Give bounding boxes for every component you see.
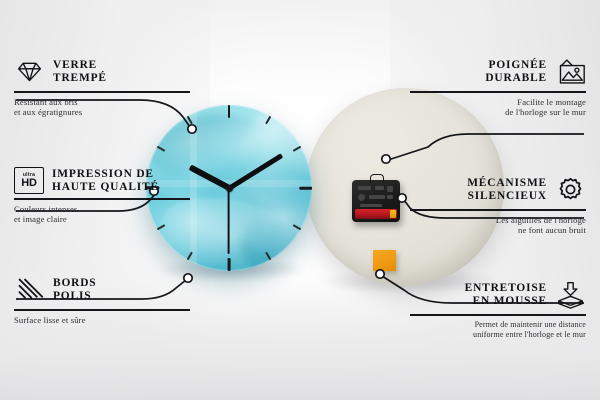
callout-sub-line2: et image claire	[14, 214, 67, 224]
callout-sub-line1: Facilite le montage	[517, 97, 586, 107]
callout-title: VERRE TREMPÉ	[53, 59, 107, 84]
foam-spacer-pad	[373, 250, 396, 271]
infographic-canvas: VERRE TREMPÉ Résistant aux bris et aux é…	[0, 0, 600, 400]
callout-rule	[410, 314, 586, 316]
battery-positive-tip	[390, 210, 396, 218]
hour-tick	[228, 105, 231, 118]
callout-header: BORDS POLIS	[14, 274, 190, 305]
callout-title-line2: HAUTE QUALITÉ	[52, 181, 159, 193]
callout-sub-line1: Surface lisse et sûre	[14, 315, 86, 325]
clock-mechanism-box	[352, 180, 400, 222]
callout-header: ultra HD IMPRESSION DE HAUTE QUALITÉ	[14, 167, 190, 194]
callout-title-line2: DURABLE	[485, 72, 547, 84]
callout-sub-line2: et aux égratignures	[14, 107, 82, 117]
diamond-icon	[14, 56, 45, 87]
callout-title: BORDS POLIS	[53, 277, 97, 302]
callout-entretoise-en-mousse: ENTRETOISE EN MOUSSE Permet de maintenir…	[410, 279, 586, 340]
callout-title-line2: SILENCIEUX	[468, 190, 547, 202]
callout-subtitle: Surface lisse et sûre	[14, 315, 190, 325]
callout-subtitle: Les aiguilles de l'horloge ne font aucun…	[410, 215, 586, 236]
callout-title-line1: VERRE	[53, 59, 97, 71]
callout-title-line1: BORDS	[53, 277, 97, 289]
callout-sub-line2: uniforme entre l'horloge et le mur	[473, 330, 586, 339]
callout-sub-line1: Les aiguilles de l'horloge	[496, 215, 586, 225]
diagonal-lines-icon	[14, 274, 45, 305]
callout-sub-line1: Résistant aux bris	[14, 97, 78, 107]
callout-header: MÉCANISME SILENCIEUX	[410, 174, 586, 205]
callout-title: MÉCANISME SILENCIEUX	[467, 177, 547, 202]
callout-title-line2: TREMPÉ	[53, 72, 107, 84]
battery	[355, 209, 397, 219]
callout-mecanisme-silencieux: MÉCANISME SILENCIEUX Les aiguilles de l'…	[410, 174, 586, 235]
ultra-hd-icon: ultra HD	[14, 167, 44, 194]
callout-rule	[410, 209, 586, 211]
callout-subtitle: Résistant aux bris et aux égratignures	[14, 97, 190, 118]
callout-subtitle: Couleurs intenses et image claire	[14, 204, 190, 225]
picture-frame-icon	[555, 56, 586, 87]
ultra-hd-icon-label-bottom: HD	[21, 178, 37, 189]
callout-rule	[14, 198, 190, 200]
callout-title-line1: IMPRESSION DE	[52, 168, 154, 180]
callout-bords-polis: BORDS POLIS Surface lisse et sûre	[14, 274, 190, 325]
callout-title-line2: EN MOUSSE	[473, 295, 547, 307]
callout-subtitle: Permet de maintenir une distance uniform…	[410, 320, 586, 341]
gear-icon	[555, 174, 586, 205]
callout-sub-line1: Permet de maintenir une distance	[475, 320, 586, 329]
callout-sub-line2: de l'horloge sur le mur	[505, 107, 586, 117]
callout-header: VERRE TREMPÉ	[14, 56, 190, 87]
callout-verre-trempe: VERRE TREMPÉ Résistant aux bris et aux é…	[14, 56, 190, 117]
callout-rule	[14, 91, 190, 93]
callout-impression-haute-qualite: ultra HD IMPRESSION DE HAUTE QUALITÉ Cou…	[14, 167, 190, 224]
callout-header: ENTRETOISE EN MOUSSE	[410, 279, 586, 310]
arrow-down-onto-foam-icon	[555, 279, 586, 310]
callout-sub-line2: ne font aucun bruit	[518, 225, 586, 235]
callout-header: POIGNÉE DURABLE	[410, 56, 586, 87]
callout-sub-line1: Couleurs intenses	[14, 204, 77, 214]
callout-title-line1: POIGNÉE	[489, 59, 547, 71]
callout-title-line1: ENTRETOISE	[465, 282, 547, 294]
callout-poignee-durable: POIGNÉE DURABLE Facilite le montage de l…	[410, 56, 586, 117]
callout-title: ENTRETOISE EN MOUSSE	[465, 282, 547, 307]
clock-hand-cap	[226, 185, 233, 192]
callout-subtitle: Facilite le montage de l'horloge sur le …	[410, 97, 586, 118]
callout-rule	[410, 91, 586, 93]
callout-title: IMPRESSION DE HAUTE QUALITÉ	[52, 168, 159, 193]
clock-second-hand	[228, 188, 230, 254]
hour-tick	[228, 258, 231, 271]
callout-title-line2: POLIS	[53, 290, 91, 302]
hanger-icon	[370, 174, 384, 183]
callout-title: POIGNÉE DURABLE	[485, 59, 547, 84]
hour-tick	[299, 187, 312, 190]
callout-rule	[14, 309, 190, 311]
callout-title-line1: MÉCANISME	[467, 177, 547, 189]
